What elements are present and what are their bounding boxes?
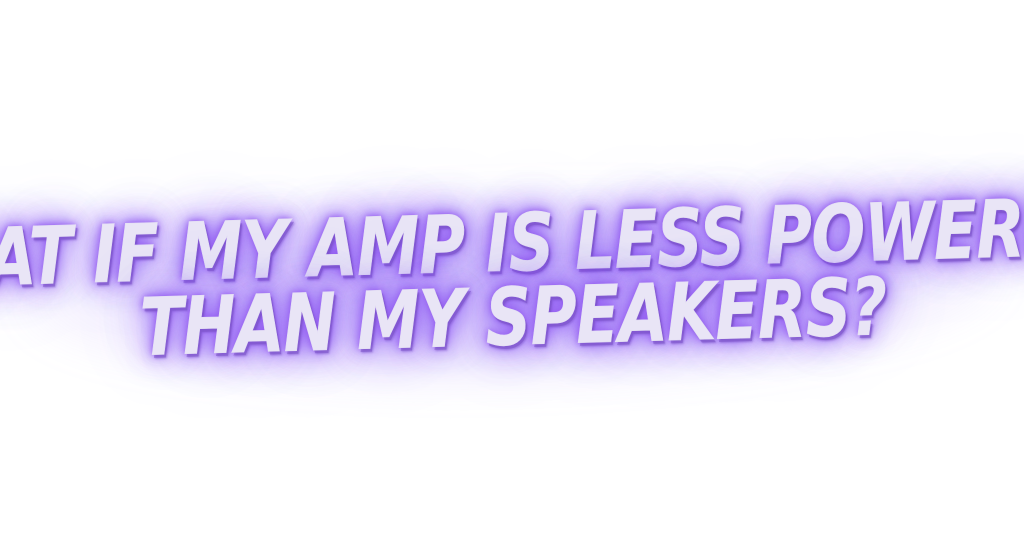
headline-container: WHAT IF MY AMP IS LESS POWERFUL THAN MY … bbox=[0, 0, 1024, 536]
headline-text-block: WHAT IF MY AMP IS LESS POWERFUL THAN MY … bbox=[0, 190, 1024, 370]
poster-canvas: WHAT IF MY AMP IS LESS POWERFUL THAN MY … bbox=[0, 0, 1024, 536]
